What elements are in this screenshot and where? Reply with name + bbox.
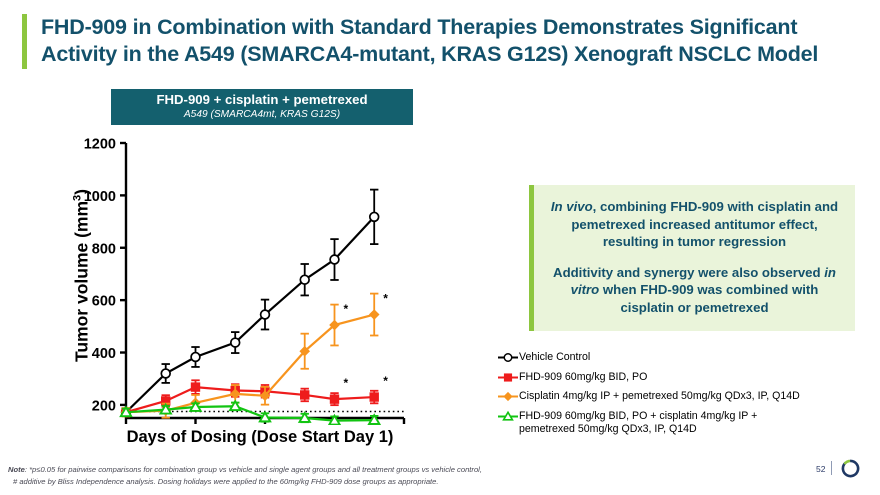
legend-label: Cisplatin 4mg/kg IP + pemetrexed 50mg/kg… bbox=[519, 389, 800, 404]
legend-label: FHD-909 60mg/kg BID, PO bbox=[519, 370, 647, 385]
callout-em-invivo: In vivo bbox=[551, 199, 593, 214]
insight-callout: In vivo, combining FHD-909 with cisplati… bbox=[529, 185, 855, 331]
svg-text:1200: 1200 bbox=[84, 137, 116, 153]
y-axis-label: Tumor volume (mm3) bbox=[72, 166, 93, 386]
page-number: 52 bbox=[816, 464, 825, 474]
legend-marker-icon bbox=[497, 409, 519, 424]
callout-p2-pre: Additivity and synergy were also observe… bbox=[553, 265, 824, 280]
title-accent-bar bbox=[22, 14, 27, 69]
callout-paragraph-1: In vivo, combining FHD-909 with cisplati… bbox=[546, 198, 843, 251]
chart-banner-main: FHD-909 + cisplatin + pemetrexed bbox=[111, 93, 413, 108]
legend-item: FHD-909 60mg/kg BID, PO + cisplatin 4mg/… bbox=[497, 409, 877, 438]
x-axis-label: Days of Dosing (Dose Start Day 1) bbox=[100, 428, 420, 447]
legend-item: FHD-909 60mg/kg BID, PO bbox=[497, 370, 877, 385]
callout-p2-post: when FHD-909 was combined with cisplatin… bbox=[599, 282, 818, 315]
chart-svg: 2004006008001000120007142128*****#*# bbox=[0, 125, 470, 425]
footnote-label: Note bbox=[8, 465, 25, 474]
svg-text:*: * bbox=[344, 302, 349, 316]
svg-text:*: * bbox=[344, 376, 349, 390]
title-text: FHD-909 in Combination with Standard The… bbox=[41, 14, 862, 69]
legend-item: Vehicle Control bbox=[497, 350, 877, 365]
callout-p1-text: , combining FHD-909 with cisplatin and p… bbox=[571, 199, 838, 249]
footnote-line1-text: : *p≤0.05 for pairwise comparisons for c… bbox=[25, 465, 482, 474]
series-open-circle bbox=[122, 190, 379, 417]
callout-paragraph-2: Additivity and synergy were also observe… bbox=[546, 264, 843, 317]
page-divider bbox=[831, 461, 832, 475]
footnote-line-2: # additive by Bliss Independence analysi… bbox=[8, 476, 608, 488]
svg-text:200: 200 bbox=[92, 398, 116, 414]
legend-marker-icon bbox=[497, 350, 519, 365]
chart-legend: Vehicle ControlFHD-909 60mg/kg BID, POCi… bbox=[497, 350, 877, 442]
chart-title-banner: FHD-909 + cisplatin + pemetrexed A549 (S… bbox=[111, 89, 413, 125]
svg-text:*: * bbox=[383, 292, 388, 306]
svg-text:600: 600 bbox=[92, 294, 116, 310]
footnote-line-1: Note: *p≤0.05 for pairwise comparisons f… bbox=[8, 464, 608, 476]
svg-text:800: 800 bbox=[92, 241, 116, 257]
legend-item: Cisplatin 4mg/kg IP + pemetrexed 50mg/kg… bbox=[497, 389, 877, 404]
footnote: Note: *p≤0.05 for pairwise comparisons f… bbox=[8, 464, 608, 488]
chart-plot: 2004006008001000120007142128*****#*# Tum… bbox=[0, 125, 470, 455]
svg-text:400: 400 bbox=[92, 346, 116, 362]
legend-marker-icon bbox=[497, 370, 519, 385]
svg-text:*: * bbox=[383, 374, 388, 388]
legend-marker-icon bbox=[497, 389, 519, 404]
chart-banner-sub: A549 (SMARCA4mt, KRAS G12S) bbox=[111, 109, 413, 121]
company-logo-icon bbox=[841, 459, 860, 478]
legend-label: FHD-909 60mg/kg BID, PO + cisplatin 4mg/… bbox=[519, 409, 804, 438]
page-title: FHD-909 in Combination with Standard The… bbox=[22, 14, 862, 69]
legend-label: Vehicle Control bbox=[519, 350, 590, 365]
